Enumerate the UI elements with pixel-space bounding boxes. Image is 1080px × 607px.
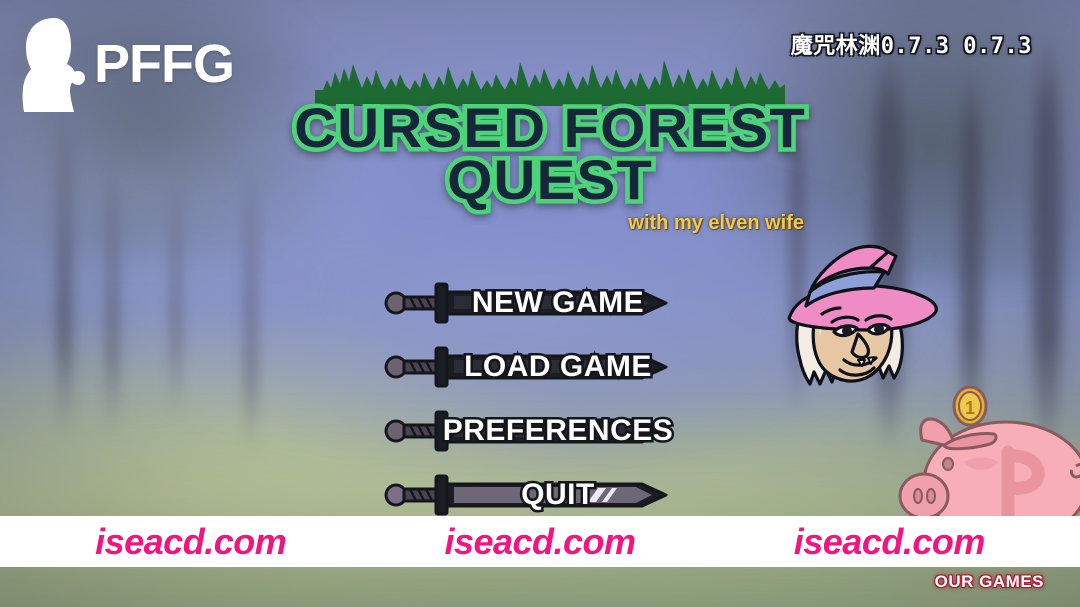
watermark-text: iseacd.com [794,521,985,563]
piggy-bank: 1 [898,386,1080,536]
menu-label-load-game: LOAD GAME [384,342,674,392]
menu-item-new-game[interactable]: NEW GAME [384,278,684,342]
coin-value: 1 [965,398,975,418]
menu-label-quit: QUIT [384,470,674,520]
logo-wordmark: PFFG [94,37,234,91]
menu-item-load-game[interactable]: LOAD GAME [384,342,684,406]
watermark-text: iseacd.com [444,521,635,563]
version-label: 魔咒林渊0.7.3 0.7.3 [791,28,1032,60]
our-games-button[interactable]: OUR GAMES [935,572,1044,592]
menu-item-preferences[interactable]: PREFERENCES [384,406,684,470]
main-menu: NEW GAME LOAD GAME [384,278,684,534]
menu-label-preferences: PREFERENCES [384,406,674,456]
menu-label-new-game: NEW GAME [384,278,674,328]
woman-silhouette-icon [14,16,92,112]
pffg-logo[interactable]: PFFG [14,14,224,114]
witch-portrait [752,238,960,398]
game-main-menu-screen: PFFG 魔咒林渊0.7.3 0.7.3 CURSED FOREST QUEST… [0,0,1080,607]
watermark-bar: iseacd.com iseacd.com iseacd.com [0,516,1080,567]
watermark-text: iseacd.com [95,521,286,563]
